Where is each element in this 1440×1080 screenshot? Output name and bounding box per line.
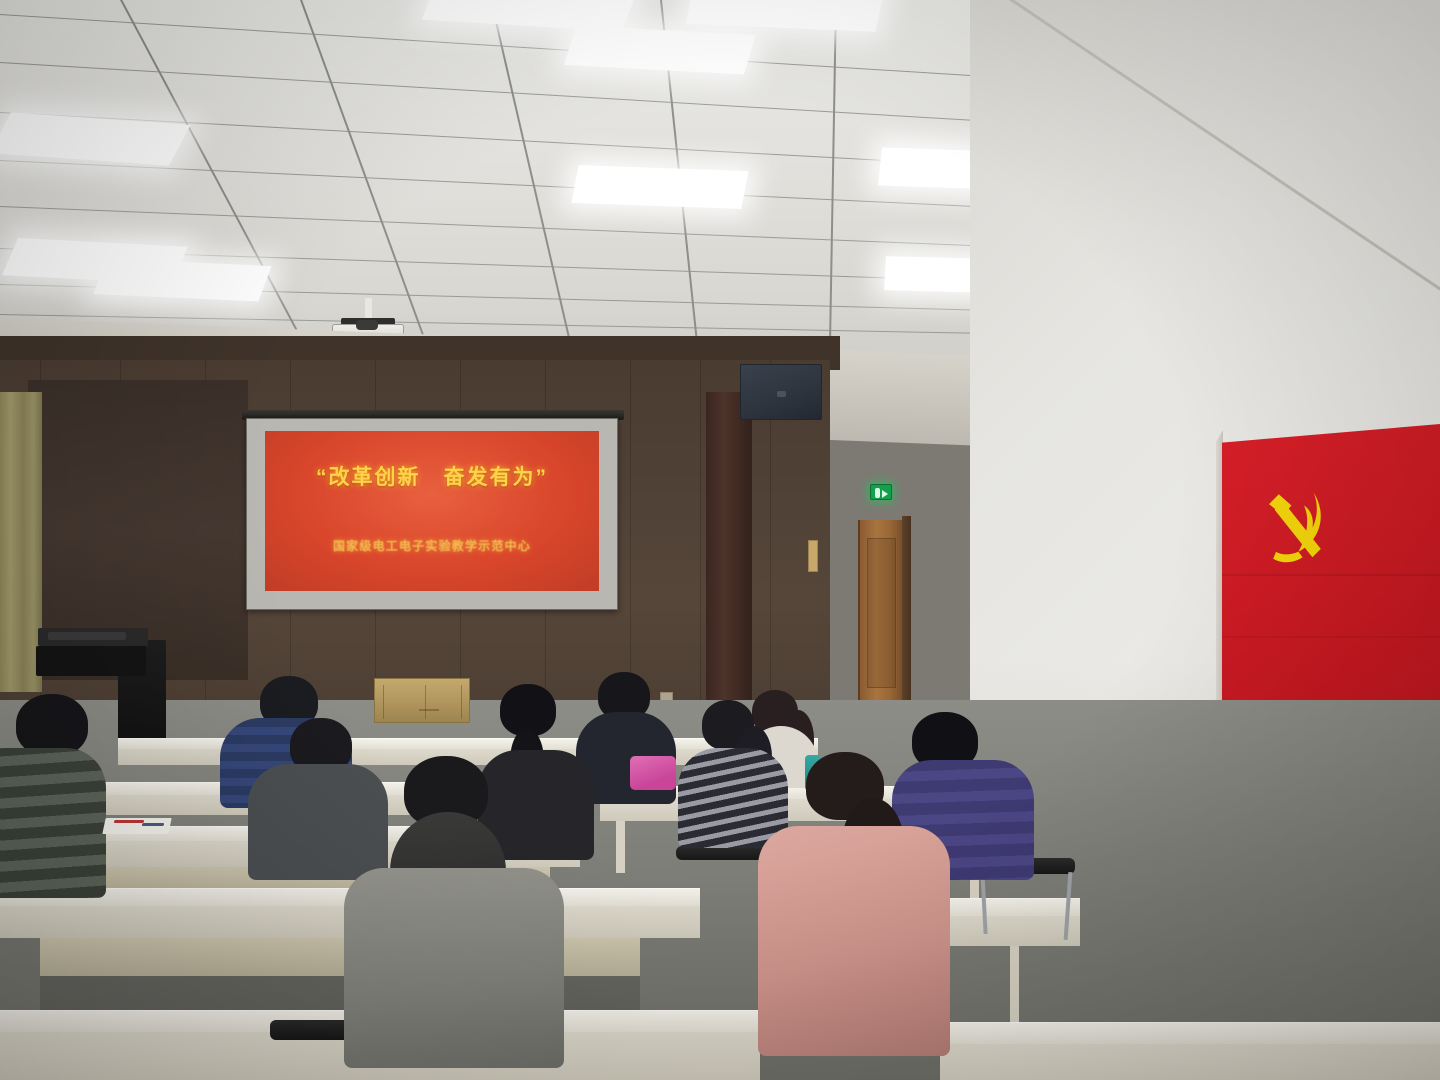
- ceiling-light-panel: [564, 26, 756, 75]
- av-cabinet: [36, 646, 146, 676]
- door-signage-plate: [808, 540, 818, 572]
- projection-screen: “改革创新 奋发有为” 国家级电工电子实验教学示范中心: [246, 418, 618, 610]
- wall-speaker: [740, 364, 822, 420]
- torso: [0, 748, 106, 898]
- emergency-exit-sign: [870, 484, 892, 500]
- hammer-and-sickle-icon: [1262, 484, 1332, 576]
- projector-lens: [356, 320, 378, 330]
- head: [16, 694, 88, 756]
- pink-handbag: [630, 756, 676, 790]
- speaker-port: [777, 391, 786, 397]
- projector-mount: [365, 298, 372, 320]
- slide-subtitle: 国家级电工电子实验教学示范中心: [333, 537, 531, 554]
- desk-surface: [940, 1022, 1440, 1044]
- torso: [758, 826, 950, 1056]
- classroom-photo: “改革创新 奋发有为” 国家级电工电子实验教学示范中心: [0, 0, 1440, 1080]
- torso: [678, 748, 788, 848]
- ceiling-light-panel: [686, 0, 885, 32]
- dark-door-frame: [706, 392, 752, 722]
- flag-hem: [1216, 430, 1223, 730]
- exit-figure-icon: [875, 488, 880, 498]
- red-pen: [114, 820, 145, 823]
- projected-slide: “改革创新 奋发有为” 国家级电工电子实验教学示范中心: [265, 431, 599, 591]
- desk-leg: [1010, 946, 1019, 1034]
- exit-arrow-icon: [882, 490, 888, 498]
- wooden-lectern: [374, 678, 470, 723]
- slide-title: “改革创新 奋发有为”: [316, 461, 548, 491]
- torso: [344, 868, 564, 1068]
- ceiling-light-panel: [93, 259, 271, 302]
- cpc-party-flag: [1222, 424, 1440, 734]
- blue-pen: [142, 823, 165, 826]
- ceiling-light-panel: [571, 165, 748, 209]
- desk-leg: [616, 821, 625, 873]
- desk-front-panel: [940, 1044, 1440, 1080]
- av-equipment-unit: [48, 632, 126, 640]
- torso: [248, 764, 388, 880]
